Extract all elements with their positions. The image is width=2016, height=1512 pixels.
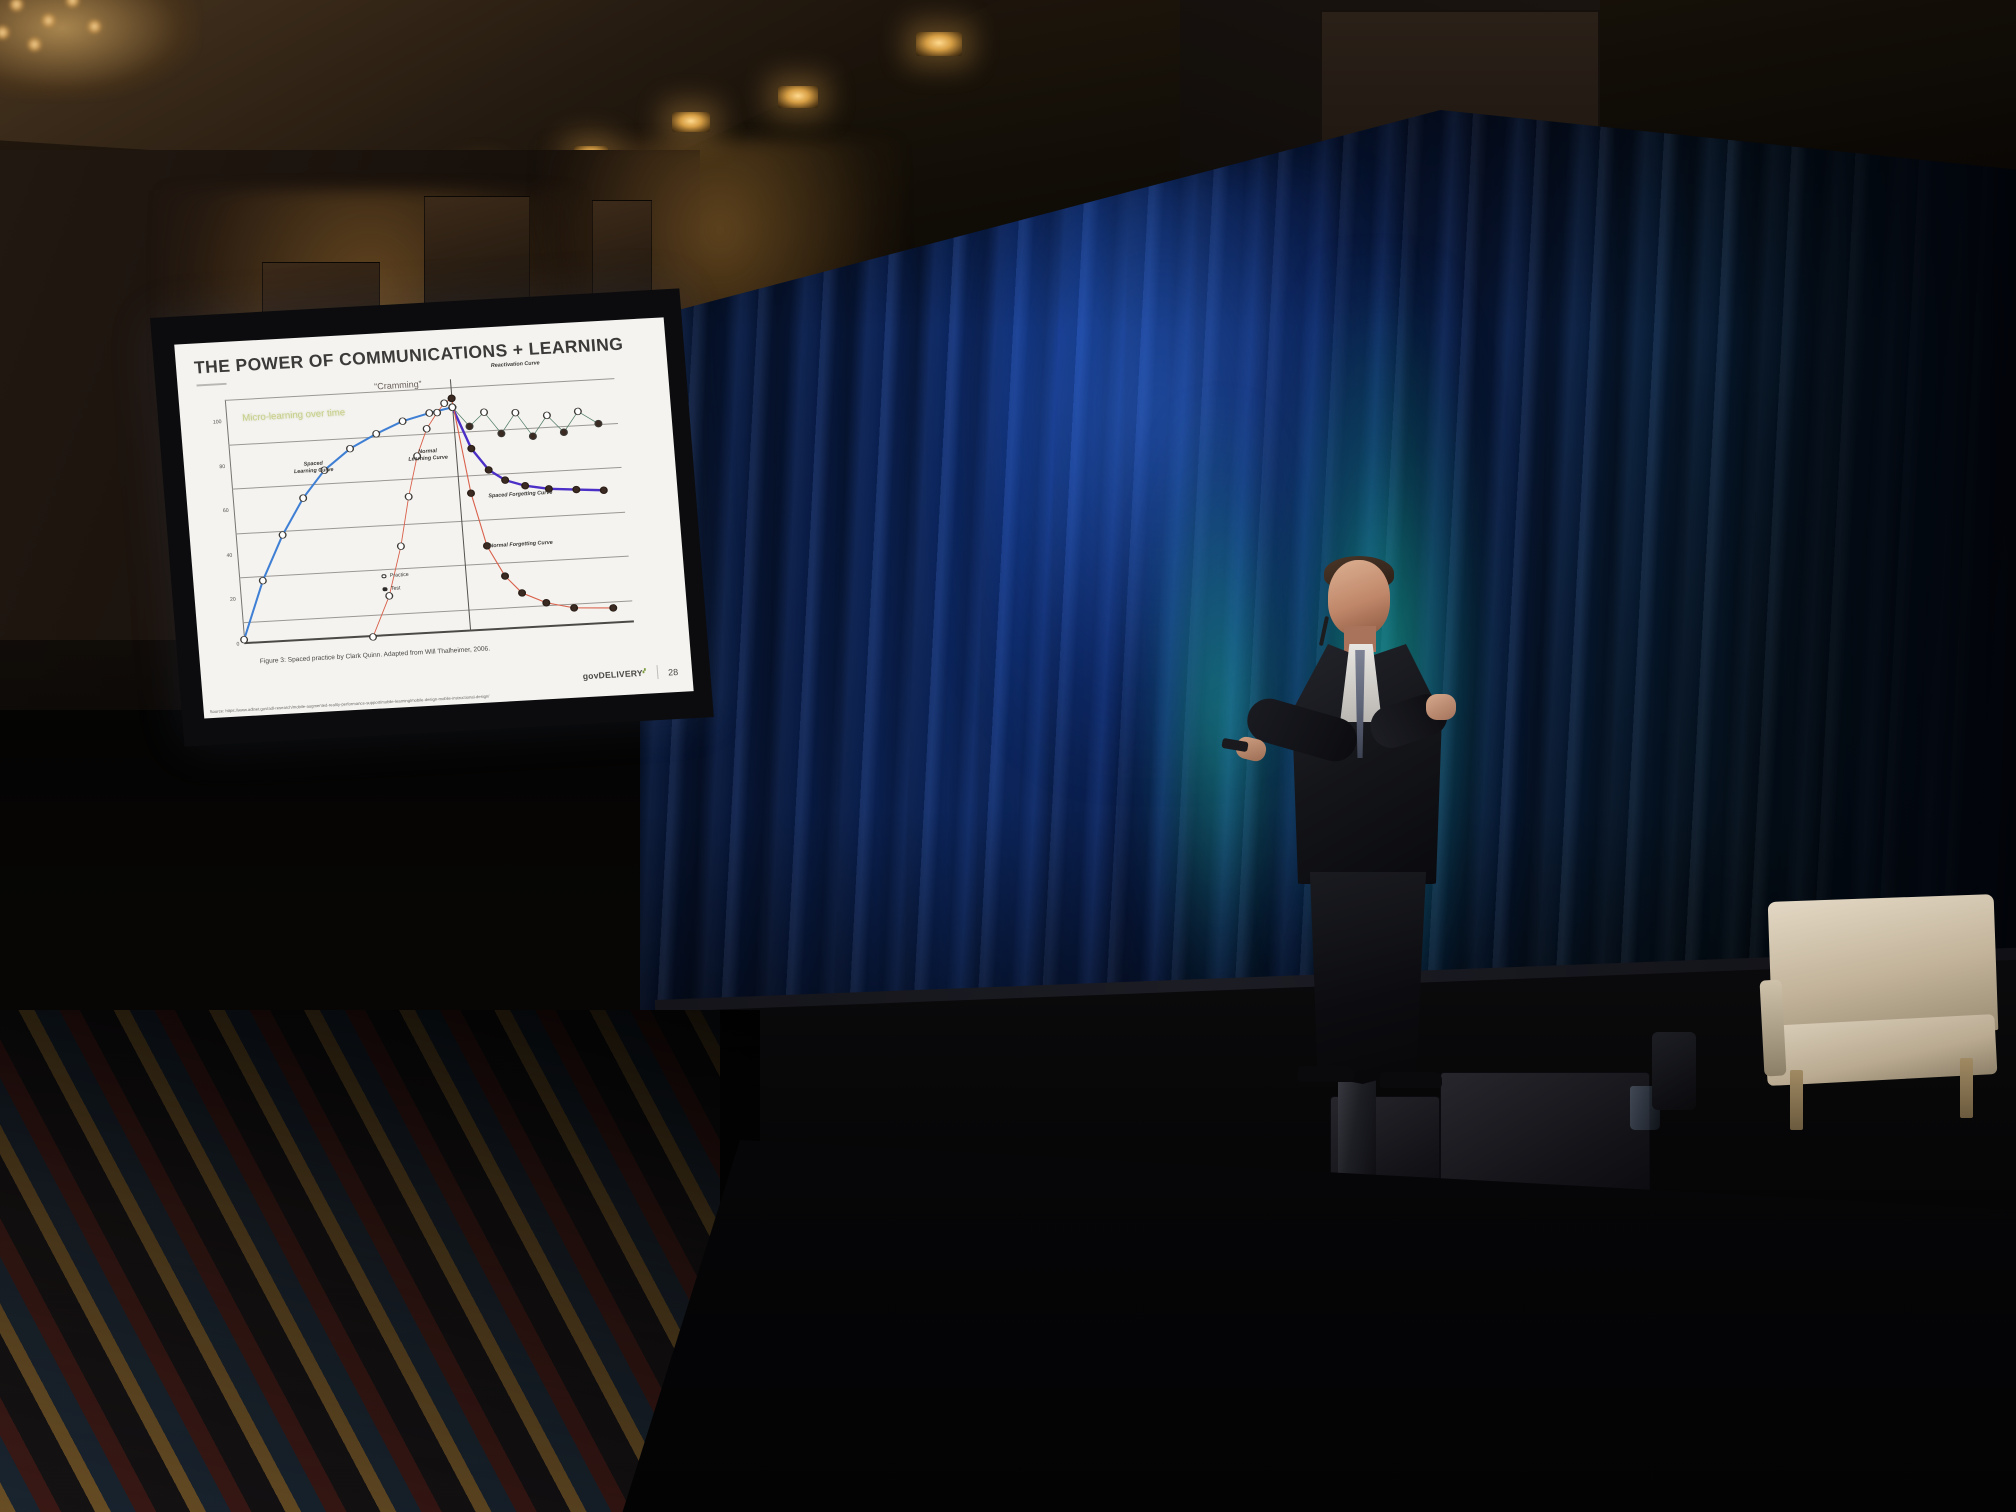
presenter-shoe — [1298, 1066, 1354, 1082]
data-point — [466, 423, 473, 430]
projection-screen: THE POWER OF COMMUNICATIONS + LEARNING M… — [150, 288, 714, 746]
data-point — [518, 589, 525, 596]
logo-mark: ▞ — [642, 668, 646, 673]
open-circle-icon — [381, 574, 386, 579]
data-point — [405, 493, 412, 500]
slide-source-url: Source: https://www.adlnet.gov/adl-resea… — [210, 694, 490, 715]
data-point — [448, 395, 455, 402]
data-point — [512, 409, 519, 416]
data-point — [468, 445, 475, 452]
data-point — [522, 482, 529, 489]
data-point — [543, 599, 550, 606]
data-point — [610, 604, 617, 611]
chart-plot-area: 100 80 60 40 20 0 Spaced Learning Curve … — [225, 378, 634, 644]
data-point — [369, 633, 376, 640]
data-point — [373, 430, 380, 437]
data-point — [259, 577, 266, 584]
conference-room-scene: THE POWER OF COMMUNICATIONS + LEARNING M… — [0, 0, 2016, 1512]
data-point — [501, 573, 508, 580]
data-point — [498, 430, 505, 437]
y-tick-label: 0 — [236, 641, 239, 647]
data-point — [560, 429, 567, 436]
curve-normal-learning-curve — [354, 398, 470, 637]
filled-circle-icon — [382, 587, 387, 592]
label-normal-learning-curve: Normal Learning Curve — [407, 448, 448, 464]
legend-item-practice: Practice — [381, 572, 409, 580]
logo-divider — [656, 665, 658, 679]
headset-microphone — [1319, 616, 1329, 646]
data-point — [543, 412, 550, 419]
data-point — [502, 477, 509, 484]
data-point — [571, 604, 578, 611]
presentation-slide: THE POWER OF COMMUNICATIONS + LEARNING M… — [174, 317, 693, 718]
presenter-legs — [1302, 872, 1434, 1084]
presenter — [1240, 560, 1500, 1080]
figure-caption: Figure 3: Spaced practice by Clark Quinn… — [260, 645, 491, 665]
label-spaced-learning-curve: Spaced Learning Curve — [292, 460, 335, 476]
legend-label: Test — [391, 585, 401, 592]
legend-label: Practice — [390, 572, 409, 579]
curve-reactivation-curve — [452, 399, 599, 440]
data-point — [434, 409, 441, 416]
chart-curves — [225, 378, 634, 644]
data-point — [574, 408, 581, 415]
y-tick-label: 60 — [223, 508, 229, 514]
data-point — [529, 433, 536, 440]
y-tick-label: 40 — [226, 553, 232, 559]
y-tick-label: 20 — [230, 597, 236, 603]
equipment-bag — [1652, 1032, 1696, 1110]
data-point — [480, 409, 487, 416]
data-point — [426, 410, 433, 417]
presenter-head — [1328, 560, 1390, 636]
ceiling-light — [916, 32, 962, 56]
data-point — [346, 445, 353, 452]
carpet-shadow — [0, 1010, 760, 1512]
chandelier — [0, 0, 200, 100]
data-point — [397, 543, 404, 550]
data-point — [241, 636, 248, 643]
data-point — [485, 466, 492, 473]
data-point — [467, 490, 474, 497]
chart-legend: Practice Test — [381, 572, 410, 599]
data-point — [300, 495, 307, 502]
title-underline — [196, 383, 226, 386]
y-tick-label: 100 — [213, 419, 222, 425]
curve-normal-forgetting-curve — [452, 390, 614, 616]
data-point — [279, 531, 286, 538]
ceiling-light — [778, 86, 818, 108]
data-point — [449, 404, 456, 411]
data-point — [573, 486, 580, 493]
presenter-shoe — [1380, 1072, 1442, 1088]
govdelivery-logo: govDELIVERY▞ — [582, 668, 646, 682]
stage-chair-leg — [1960, 1058, 1973, 1118]
y-tick-label: 80 — [219, 464, 225, 470]
data-point — [399, 418, 406, 425]
ceiling-light — [672, 112, 710, 132]
legend-item-test: Test — [382, 585, 410, 593]
stage-chair-leg — [1790, 1070, 1803, 1130]
data-point — [595, 420, 602, 427]
data-point — [441, 400, 448, 407]
slide-title: THE POWER OF COMMUNICATIONS + LEARNING — [193, 334, 624, 379]
data-point — [600, 487, 607, 494]
slide-page-number: 28 — [668, 667, 679, 678]
presenter-left-hand — [1426, 694, 1456, 720]
data-point — [423, 425, 430, 432]
curve-spaced-learning-curve — [226, 407, 470, 639]
